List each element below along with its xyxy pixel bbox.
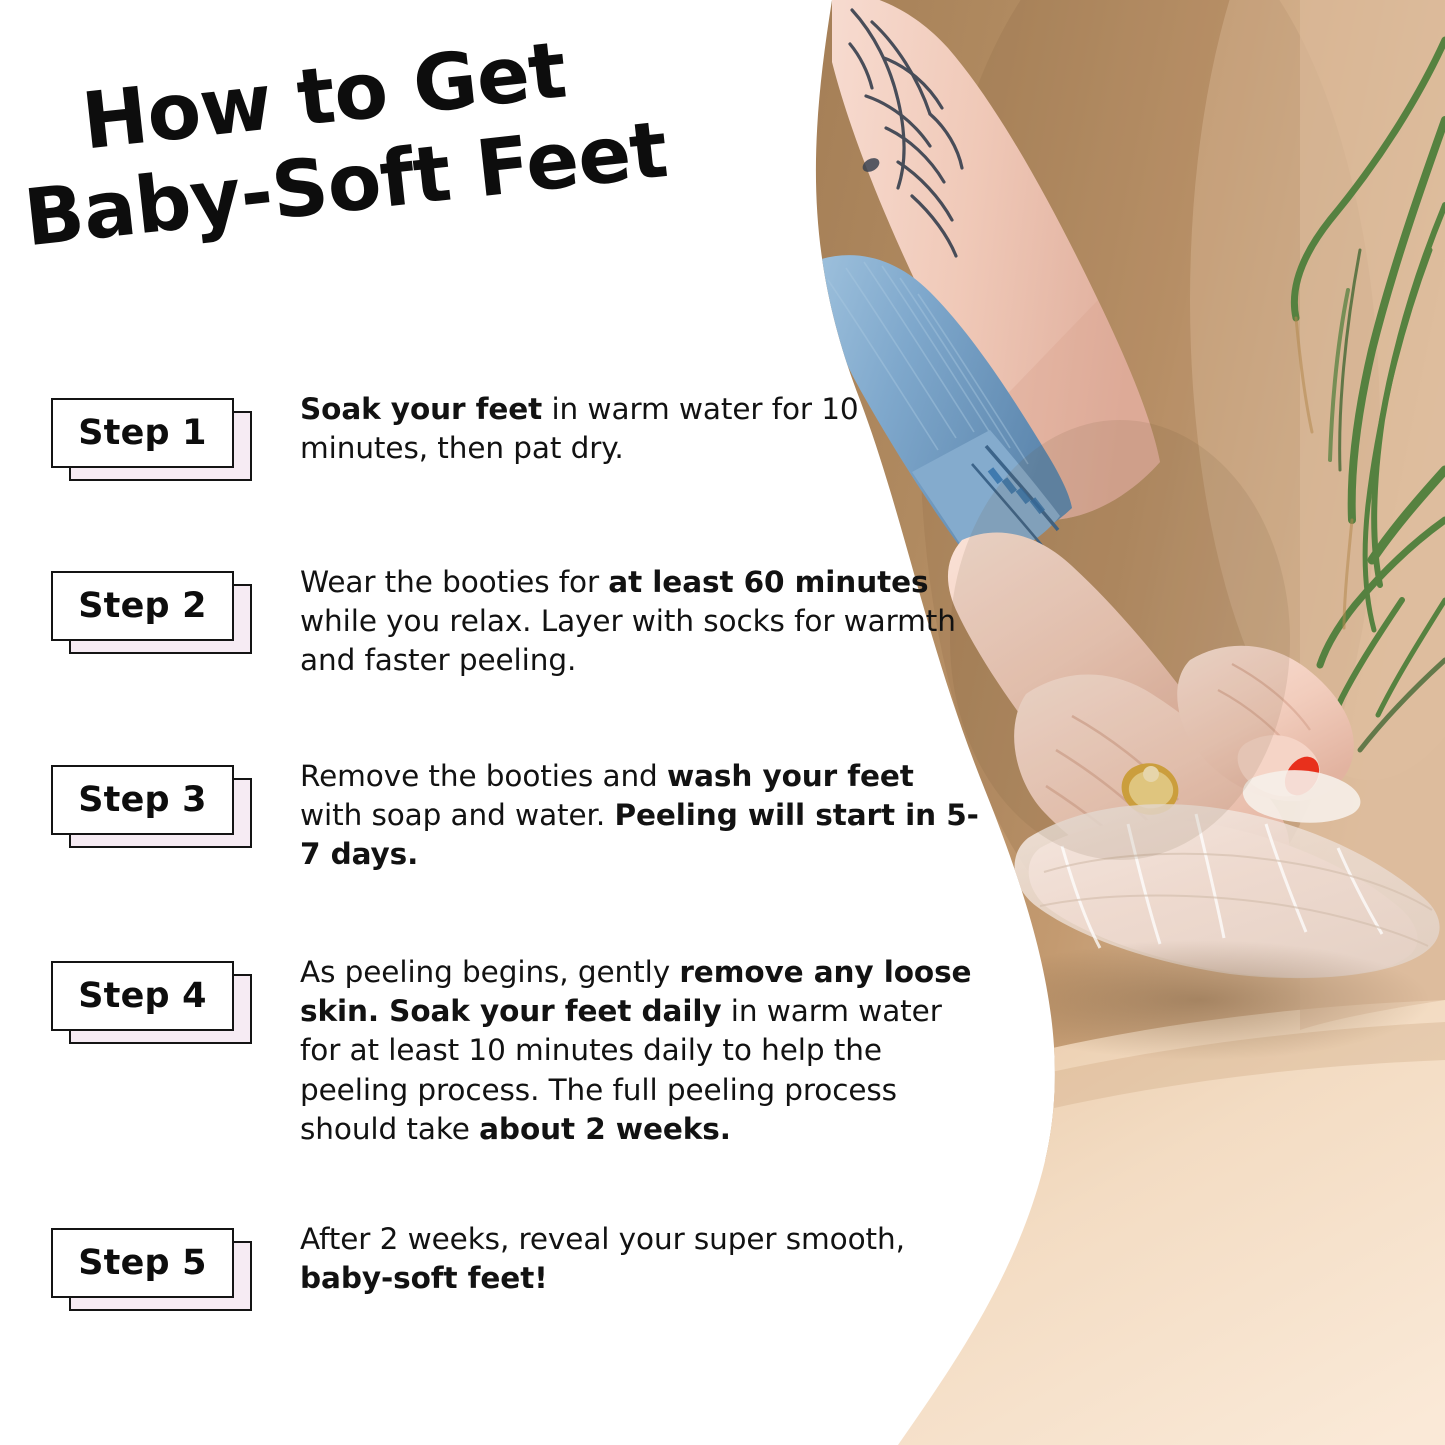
step-badge-5: Step 5 xyxy=(51,1228,236,1300)
step-badge-label: Step 1 xyxy=(78,416,206,451)
step-badge-label: Step 3 xyxy=(78,783,206,818)
step-badge-front-box: Step 2 xyxy=(51,571,234,641)
step-description-1: Soak your feet in warm water for 10 minu… xyxy=(300,390,980,468)
step-text-plain: Remove the booties and xyxy=(300,759,667,793)
step-text-emphasis: at least 60 minutes xyxy=(608,565,928,599)
step-text-emphasis: baby-soft feet! xyxy=(300,1261,548,1295)
step-text-plain: while you relax. Layer with socks for wa… xyxy=(300,604,956,677)
step-description-5: After 2 weeks, reveal your super smooth,… xyxy=(300,1220,980,1298)
step-description-4: As peeling begins, gently remove any loo… xyxy=(300,953,980,1149)
step-text-plain: with soap and water. xyxy=(300,798,614,832)
step-text-emphasis: Soak your feet xyxy=(300,392,542,426)
step-badge-label: Step 4 xyxy=(78,979,206,1014)
step-badge-4: Step 4 xyxy=(51,961,236,1033)
step-text-plain: After 2 weeks, reveal your super smooth, xyxy=(300,1222,905,1256)
step-text-emphasis: about 2 weeks. xyxy=(479,1112,731,1146)
step-badge-1: Step 1 xyxy=(51,398,236,470)
step-text-plain: Wear the booties for xyxy=(300,565,608,599)
step-badge-front-box: Step 4 xyxy=(51,961,234,1031)
step-description-3: Remove the booties and wash your feet wi… xyxy=(300,757,980,875)
step-badge-label: Step 5 xyxy=(78,1246,206,1281)
step-badge-front-box: Step 5 xyxy=(51,1228,234,1298)
infographic-page: How to Get Baby-Soft Feet Step 1Soak you… xyxy=(0,0,1445,1445)
step-badge-3: Step 3 xyxy=(51,765,236,837)
step-badge-front-box: Step 1 xyxy=(51,398,234,468)
step-text-emphasis: wash your feet xyxy=(667,759,914,793)
step-badge-front-box: Step 3 xyxy=(51,765,234,835)
step-badge-2: Step 2 xyxy=(51,571,236,643)
step-badge-label: Step 2 xyxy=(78,589,206,624)
step-text-plain: As peeling begins, gently xyxy=(300,955,679,989)
step-description-2: Wear the booties for at least 60 minutes… xyxy=(300,563,980,681)
